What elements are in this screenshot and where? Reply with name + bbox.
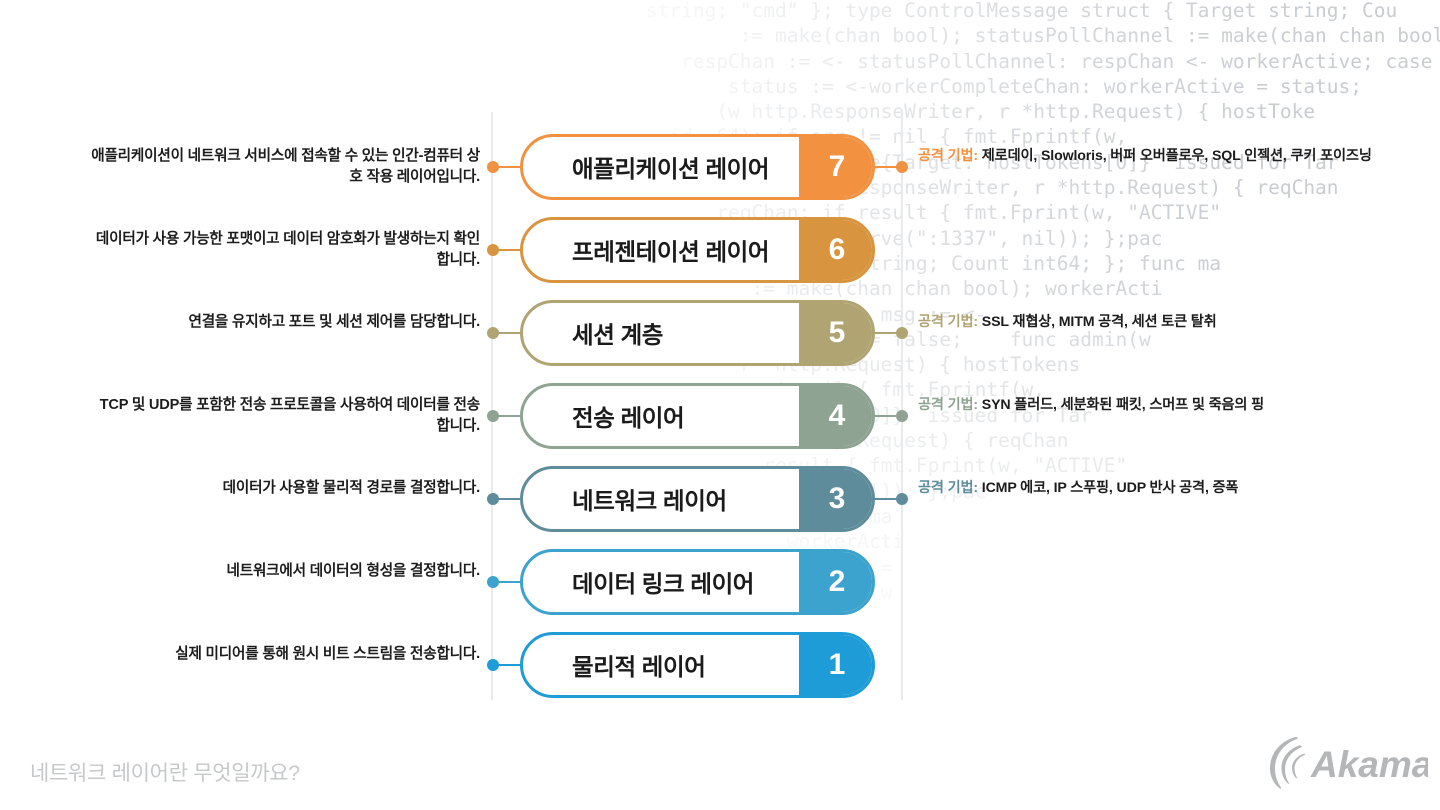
- layer-number-badge: 1: [799, 632, 875, 698]
- attack-annotation-text: 공격 기법: 제로데이, Slowloris, 버퍼 오버플로우, SQL 인젝…: [918, 146, 1388, 167]
- attack-label: 공격 기법:: [918, 148, 978, 164]
- attack-label: 공격 기법:: [918, 397, 978, 413]
- attack-annotation-text: 공격 기법: SSL 재협상, MITM 공격, 세션 토큰 탈취: [918, 312, 1388, 333]
- layer-description: 애플리케이션이 네트워크 서비스에 접속할 수 있는 인간-컴퓨터 상호 작용 …: [88, 146, 480, 187]
- attack-annotation-text: 공격 기법: SYN 플러드, 세분화된 패킷, 스머프 및 죽음의 핑: [918, 395, 1388, 416]
- attack-value: SSL 재협상, MITM 공격, 세션 토큰 탈취: [982, 314, 1217, 330]
- layer-number-badge: 6: [799, 217, 875, 283]
- layer-description: TCP 및 UDP를 포함한 전송 프로토콜을 사용하여 데이터를 전송합니다.: [88, 395, 480, 436]
- osi-model-infographic: string; "cmd" }; type ControlMessage str…: [0, 0, 1440, 810]
- attack-value: ICMP 에코, IP 스푸핑, UDP 반사 공격, 증폭: [982, 480, 1239, 496]
- left-connector-line: [496, 332, 520, 335]
- layer-description: 데이터가 사용 가능한 포맷이고 데이터 암호화가 발생하는지 확인합니다.: [88, 229, 480, 270]
- layer-number-badge: 7: [799, 134, 875, 200]
- left-connector-line: [496, 664, 520, 667]
- attack-annotation: 공격 기법: SSL 재협상, MITM 공격, 세션 토큰 탈취: [918, 312, 1388, 333]
- attack-annotation: 공격 기법: SYN 플러드, 세분화된 패킷, 스머프 및 죽음의 핑: [918, 395, 1388, 416]
- page-title: 네트워크 레이어란 무엇일까요?: [30, 757, 300, 787]
- attack-annotation: 공격 기법: 제로데이, Slowloris, 버퍼 오버플로우, SQL 인젝…: [918, 146, 1388, 167]
- layer-name: 물리적 레이어: [572, 648, 705, 682]
- layer-pill[interactable]: 전송 레이어4: [520, 383, 875, 449]
- layer-description: 실제 미디어를 통해 원시 비트 스트림을 전송합니다.: [88, 644, 480, 665]
- left-connector-dot: [487, 161, 499, 173]
- layer-name: 세션 계층: [572, 316, 663, 350]
- left-connector-line: [496, 498, 520, 501]
- layer-number-badge: 4: [799, 383, 875, 449]
- attack-annotation: 공격 기법: ICMP 에코, IP 스푸핑, UDP 반사 공격, 증폭: [918, 478, 1388, 499]
- layer-name: 애플리케이션 레이어: [572, 150, 769, 184]
- attack-value: SYN 플러드, 세분화된 패킷, 스머프 및 죽음의 핑: [982, 397, 1264, 413]
- left-connector-dot: [487, 493, 499, 505]
- attack-label: 공격 기법:: [918, 480, 978, 496]
- attack-label: 공격 기법:: [918, 314, 978, 330]
- layer-pill[interactable]: 데이터 링크 레이어2: [520, 549, 875, 615]
- svg-text:Akamai: Akamai: [1310, 744, 1428, 785]
- layer-name: 네트워크 레이어: [572, 482, 727, 516]
- layer-description: 네트워크에서 데이터의 형성을 결정합니다.: [88, 561, 480, 582]
- right-connector-dot: [896, 493, 908, 505]
- layer-description: 연결을 유지하고 포트 및 세션 제어를 담당합니다.: [88, 312, 480, 333]
- right-connector-dot: [896, 327, 908, 339]
- left-connector-dot: [487, 327, 499, 339]
- attack-annotation-text: 공격 기법: ICMP 에코, IP 스푸핑, UDP 반사 공격, 증폭: [918, 478, 1388, 499]
- layer-name: 프레젠테이션 레이어: [572, 233, 769, 267]
- right-connector-dot: [896, 410, 908, 422]
- layer-name: 데이터 링크 레이어: [572, 565, 754, 599]
- layer-number-badge: 2: [799, 549, 875, 615]
- attack-value: 제로데이, Slowloris, 버퍼 오버플로우, SQL 인젝션, 쿠키 포…: [982, 148, 1372, 164]
- layer-number-badge: 5: [799, 300, 875, 366]
- left-connector-dot: [487, 659, 499, 671]
- left-connector-line: [496, 249, 520, 252]
- layer-description: 데이터가 사용할 물리적 경로를 결정합니다.: [88, 478, 480, 499]
- layer-pill[interactable]: 애플리케이션 레이어7: [520, 134, 875, 200]
- layer-pill[interactable]: 물리적 레이어1: [520, 632, 875, 698]
- layer-number-badge: 3: [799, 466, 875, 532]
- left-connector-dot: [487, 576, 499, 588]
- layer-name: 전송 레이어: [572, 399, 684, 433]
- left-connector-line: [496, 166, 520, 169]
- left-spine-rail: [491, 112, 493, 700]
- left-connector-dot: [487, 244, 499, 256]
- left-connector-dot: [487, 410, 499, 422]
- left-connector-line: [496, 415, 520, 418]
- right-spine-rail: [901, 112, 903, 700]
- layer-pill[interactable]: 프레젠테이션 레이어6: [520, 217, 875, 283]
- layer-pill[interactable]: 세션 계층5: [520, 300, 875, 366]
- akamai-logo: Akamai: [1268, 733, 1428, 791]
- left-connector-line: [496, 581, 520, 584]
- right-connector-dot: [896, 161, 908, 173]
- layer-pill[interactable]: 네트워크 레이어3: [520, 466, 875, 532]
